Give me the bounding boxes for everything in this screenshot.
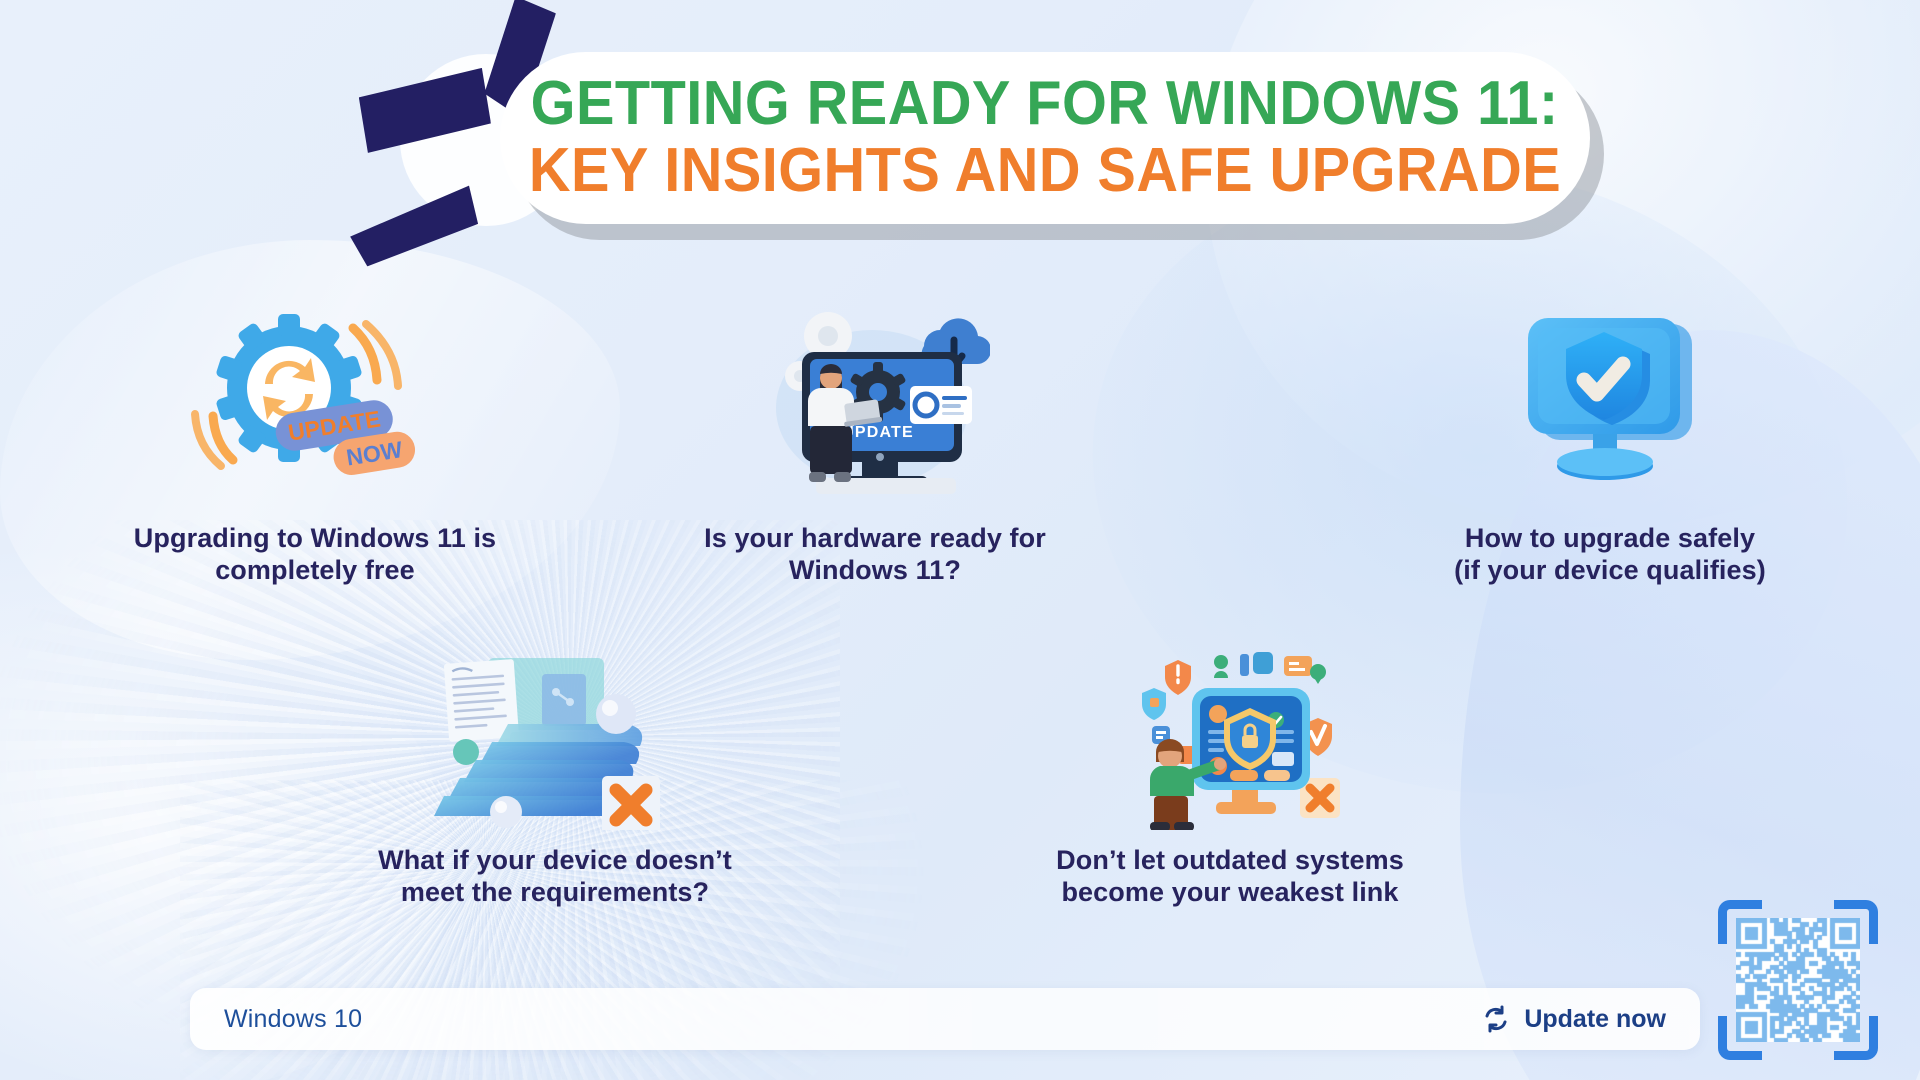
card-free-upgrade: UPDATE NOW Upgrading to Windows 11 is co… bbox=[80, 300, 550, 587]
page-title-line-1: GETTING READY FOR WINDOWS 11: bbox=[531, 71, 1559, 138]
card-caption-weakest-link: Don’t let outdated systems become your w… bbox=[1056, 844, 1404, 909]
security-dashboard-person-icon bbox=[1120, 640, 1340, 830]
title-badge: GETTING READY FOR WINDOWS 11: KEY INSIGH… bbox=[500, 52, 1590, 224]
monitor-shield-check-icon bbox=[1510, 300, 1710, 500]
monitor-update-person-icon: UPDATE bbox=[760, 300, 990, 500]
os-version-label: Windows 10 bbox=[224, 1005, 362, 1034]
page-title-line-2: KEY INSIGHTS AND SAFE UPGRADE bbox=[529, 138, 1561, 205]
gear-update-now-icon: UPDATE NOW bbox=[185, 300, 445, 500]
card-requirements-not-met: What if your device doesn’t meet the req… bbox=[340, 640, 770, 909]
card-upgrade-safely: How to upgrade safely (if your device qu… bbox=[1410, 300, 1810, 587]
card-weakest-link: Don’t let outdated systems become your w… bbox=[1020, 640, 1440, 909]
update-now-button[interactable]: Update now bbox=[1482, 1005, 1666, 1034]
card-hardware-ready: UPDATE Is your hardware ready for Window… bbox=[660, 300, 1090, 587]
icon-label-update-screen: UPDATE bbox=[842, 424, 914, 441]
card-caption-hardware-ready: Is your hardware ready for Windows 11? bbox=[704, 522, 1046, 587]
qr-code[interactable] bbox=[1718, 900, 1878, 1060]
stacked-documents-x-icon bbox=[430, 640, 680, 830]
qr-matrix bbox=[1736, 918, 1860, 1042]
bottom-bar: Windows 10 Update now bbox=[190, 988, 1700, 1050]
card-caption-upgrade-safely: How to upgrade safely (if your device qu… bbox=[1454, 522, 1766, 587]
card-caption-requirements-not-met: What if your device doesn’t meet the req… bbox=[378, 844, 732, 909]
update-now-label: Update now bbox=[1524, 1005, 1666, 1034]
starburst-ray-3 bbox=[347, 180, 480, 270]
refresh-icon bbox=[1482, 1005, 1510, 1033]
header: GETTING READY FOR WINDOWS 11: KEY INSIGH… bbox=[0, 0, 1920, 270]
card-caption-free-upgrade: Upgrading to Windows 11 is completely fr… bbox=[134, 522, 496, 587]
